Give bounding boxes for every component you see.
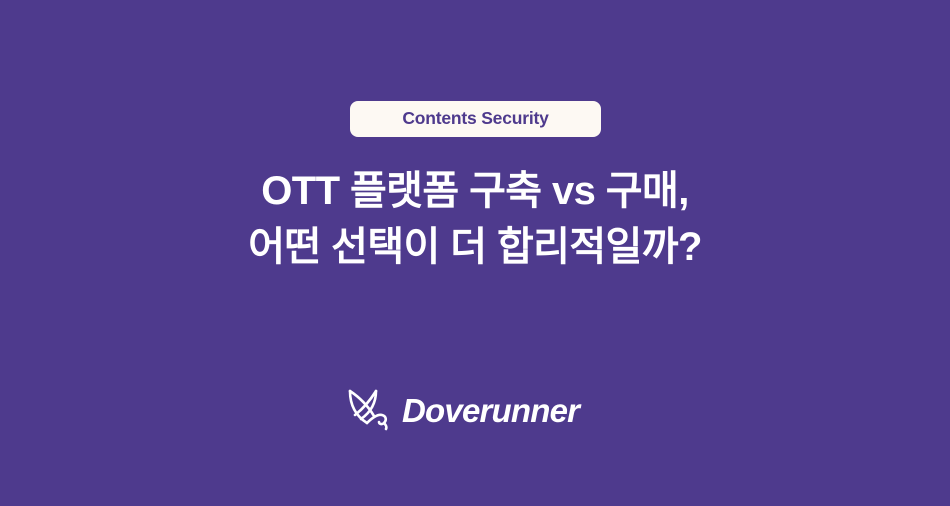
brand-logo: Doverunner [346, 388, 604, 432]
doverunner-dove-icon [346, 388, 392, 432]
page-title-line-1: OTT 플랫폼 구축 vs 구매, [0, 163, 950, 219]
category-badge: Contents Security [350, 101, 601, 137]
category-badge-label: Contents Security [402, 110, 548, 128]
page-title-line-2: 어떤 선택이 더 합리적일까? [0, 219, 950, 275]
promo-banner: Contents Security OTT 플랫폼 구축 vs 구매, 어떤 선… [0, 0, 950, 506]
brand-wordmark: Doverunner [402, 394, 579, 427]
page-title: OTT 플랫폼 구축 vs 구매, 어떤 선택이 더 합리적일까? [0, 163, 950, 275]
